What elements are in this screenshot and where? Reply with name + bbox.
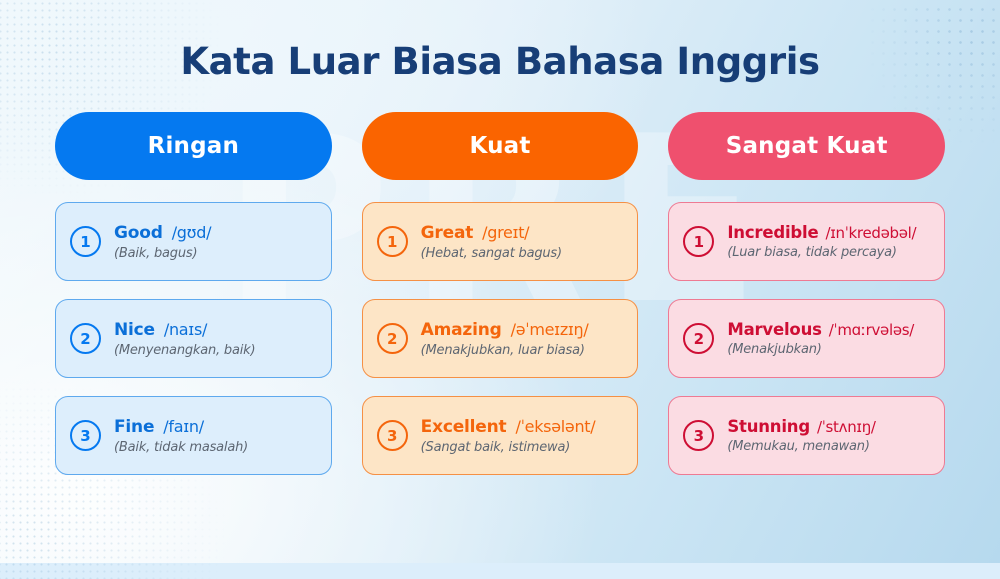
card-text: Fine /faɪn/ (Baik, tidak masalah) [114, 417, 248, 455]
ipa-pronunciation: /ɪnˈkredəbəl/ [825, 224, 916, 242]
word-label: Incredible [727, 223, 818, 242]
ipa-pronunciation: /ˈstʌnɪŋ/ [817, 418, 876, 436]
word-meaning: (Menyenangkan, baik) [114, 343, 255, 358]
card-text: Great /greɪt/ (Hebat, sangat bagus) [421, 223, 562, 261]
word-line: Good /gʊd/ [114, 223, 211, 243]
ipa-pronunciation: /əˈmeɪzɪŋ/ [511, 320, 589, 339]
card-text: Incredible /ɪnˈkredəbəl/ (Luar biasa, ti… [727, 223, 916, 260]
word-meaning: (Hebat, sangat bagus) [421, 246, 562, 261]
word-card[interactable]: 2 Marvelous /ˈmɑːrvələs/ (Menakjubkan) [668, 299, 945, 378]
word-label: Nice [114, 320, 155, 340]
page-title: Kata Luar Biasa Bahasa Inggris [55, 40, 945, 83]
columns-container: Ringan 1 Good /gʊd/ (Baik, bagus) 2 [55, 112, 945, 475]
card-list-kuat: 1 Great /greɪt/ (Hebat, sangat bagus) 2 … [362, 202, 639, 475]
infographic-page: Kata Luar Biasa Bahasa Inggris Ringan 1 … [0, 0, 1000, 563]
word-label: Excellent [421, 417, 507, 437]
word-meaning: (Baik, tidak masalah) [114, 440, 248, 455]
card-number-badge: 1 [683, 226, 714, 257]
word-line: Great /greɪt/ [421, 223, 562, 243]
card-number-badge: 3 [683, 420, 714, 451]
card-number-badge: 1 [70, 226, 101, 257]
word-meaning: (Sangat baik, istimewa) [421, 440, 596, 455]
word-line: Excellent /ˈeksələnt/ [421, 417, 596, 437]
card-text: Excellent /ˈeksələnt/ (Sangat baik, isti… [421, 417, 596, 455]
word-label: Good [114, 223, 163, 243]
word-label: Marvelous [727, 320, 821, 339]
card-number-badge: 2 [377, 323, 408, 354]
word-meaning: (Memukau, menawan) [727, 439, 875, 454]
word-line: Nice /naɪs/ [114, 320, 255, 340]
word-meaning: (Luar biasa, tidak percaya) [727, 245, 916, 260]
word-card[interactable]: 1 Incredible /ɪnˈkredəbəl/ (Luar biasa, … [668, 202, 945, 281]
card-number-badge: 3 [70, 420, 101, 451]
word-card[interactable]: 2 Amazing /əˈmeɪzɪŋ/ (Menakjubkan, luar … [362, 299, 639, 378]
card-text: Amazing /əˈmeɪzɪŋ/ (Menakjubkan, luar bi… [421, 320, 589, 358]
word-card[interactable]: 1 Good /gʊd/ (Baik, bagus) [55, 202, 332, 281]
card-text: Stunning /ˈstʌnɪŋ/ (Memukau, menawan) [727, 417, 875, 454]
word-meaning: (Baik, bagus) [114, 246, 211, 261]
word-line: Stunning /ˈstʌnɪŋ/ [727, 417, 875, 436]
card-number-badge: 1 [377, 226, 408, 257]
word-label: Amazing [421, 320, 502, 340]
column-header-sangat-kuat: Sangat Kuat [668, 112, 945, 180]
card-number-badge: 2 [683, 323, 714, 354]
column-ringan: Ringan 1 Good /gʊd/ (Baik, bagus) 2 [55, 112, 332, 475]
ipa-pronunciation: /naɪs/ [164, 320, 207, 339]
word-label: Fine [114, 417, 154, 437]
word-line: Marvelous /ˈmɑːrvələs/ [727, 320, 914, 339]
word-line: Fine /faɪn/ [114, 417, 248, 437]
card-text: Marvelous /ˈmɑːrvələs/ (Menakjubkan) [727, 320, 914, 357]
ipa-pronunciation: /faɪn/ [163, 417, 204, 436]
card-number-badge: 3 [377, 420, 408, 451]
word-card[interactable]: 2 Nice /naɪs/ (Menyenangkan, baik) [55, 299, 332, 378]
ipa-pronunciation: /ˈeksələnt/ [515, 417, 595, 436]
word-label: Stunning [727, 417, 810, 436]
card-text: Nice /naɪs/ (Menyenangkan, baik) [114, 320, 255, 358]
card-number-badge: 2 [70, 323, 101, 354]
ipa-pronunciation: /ˈmɑːrvələs/ [829, 321, 914, 339]
column-kuat: Kuat 1 Great /greɪt/ (Hebat, sangat bagu… [362, 112, 639, 475]
word-card[interactable]: 3 Stunning /ˈstʌnɪŋ/ (Memukau, menawan) [668, 396, 945, 475]
word-card[interactable]: 1 Great /greɪt/ (Hebat, sangat bagus) [362, 202, 639, 281]
column-sangat-kuat: Sangat Kuat 1 Incredible /ɪnˈkredəbəl/ (… [668, 112, 945, 475]
ipa-pronunciation: /gʊd/ [172, 223, 211, 242]
word-line: Incredible /ɪnˈkredəbəl/ [727, 223, 916, 242]
word-meaning: (Menakjubkan) [727, 342, 914, 357]
word-label: Great [421, 223, 473, 243]
card-list-sangat-kuat: 1 Incredible /ɪnˈkredəbəl/ (Luar biasa, … [668, 202, 945, 475]
word-line: Amazing /əˈmeɪzɪŋ/ [421, 320, 589, 340]
word-meaning: (Menakjubkan, luar biasa) [421, 343, 589, 358]
card-text: Good /gʊd/ (Baik, bagus) [114, 223, 211, 261]
ipa-pronunciation: /greɪt/ [482, 223, 529, 242]
column-header-ringan: Ringan [55, 112, 332, 180]
column-header-kuat: Kuat [362, 112, 639, 180]
word-card[interactable]: 3 Excellent /ˈeksələnt/ (Sangat baik, is… [362, 396, 639, 475]
card-list-ringan: 1 Good /gʊd/ (Baik, bagus) 2 Nice [55, 202, 332, 475]
word-card[interactable]: 3 Fine /faɪn/ (Baik, tidak masalah) [55, 396, 332, 475]
